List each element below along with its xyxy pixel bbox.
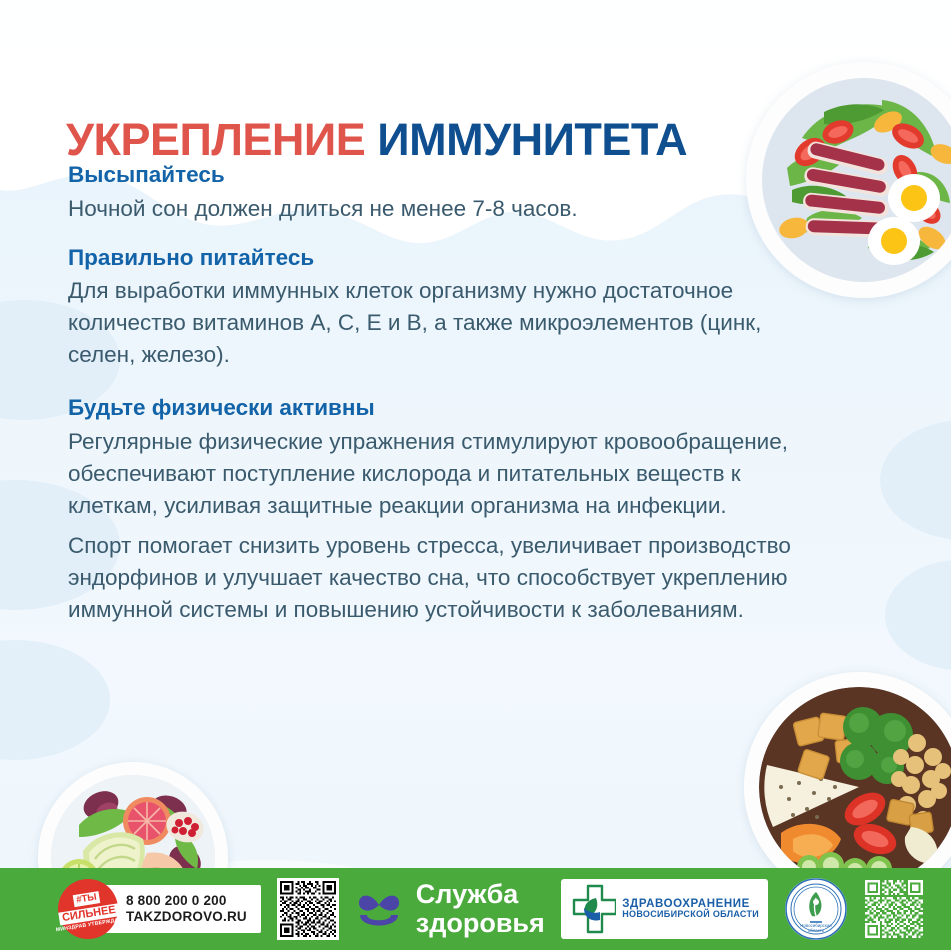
page-title-part-red: УКРЕПЛЕНИЕ: [66, 114, 365, 165]
takzdorovo-site[interactable]: TAKZDOROVO.RU: [126, 909, 247, 925]
cloud-decoration-left-lower: [0, 640, 110, 760]
page-title: УКРЕПЛЕНИЕ ИММУНИТЕТА: [66, 114, 687, 166]
takzdorovo-block[interactable]: #ТЫ СИЛЬНЕЕ МИНЗДРАВ УТВЕРЖДАЕТ 8 800 20…: [58, 879, 261, 939]
section-heading: Правильно питайтесь: [68, 243, 808, 273]
nso-logo-text: ЗДРАВООХРАНЕНИЕ НОВОСИБИРСКОЙ ОБЛАСТИ: [622, 898, 759, 921]
cloud-decoration-right-mid: [880, 420, 951, 540]
section-heading: Будьте физически активны: [68, 393, 808, 423]
section-nutrition: Правильно питайтесь Для выработки иммунн…: [68, 243, 808, 372]
svg-text:область: область: [807, 928, 824, 933]
section-physical-activity: Будьте физически активны Регулярные физи…: [68, 393, 808, 625]
section-paragraph: Ночной сон должен длиться не менее 7-8 ч…: [68, 193, 808, 225]
badge-line-1: #ТЫ: [73, 892, 101, 907]
qr-code-right[interactable]: [863, 878, 925, 940]
section-paragraph: Регулярные физические упражнения стимули…: [68, 426, 808, 522]
takzdorovo-contact-card: 8 800 200 0 200 TAKZDOROVO.RU: [100, 885, 261, 933]
nso-healthcare-logo[interactable]: ЗДРАВООХРАНЕНИЕ НОВОСИБИРСКОЙ ОБЛАСТИ: [561, 879, 768, 939]
ty-silnee-badge: #ТЫ СИЛЬНЕЕ МИНЗДРАВ УТВЕРЖДАЕТ: [58, 879, 118, 939]
regional-center-seal-icon: Новосибирская область: [785, 878, 847, 940]
heart-smile-icon: [356, 883, 402, 935]
section-heading: Высыпайтесь: [68, 160, 808, 190]
section-sleep: Высыпайтесь Ночной сон должен длиться не…: [68, 160, 808, 225]
sluzhba-zdorovya-label: Служба здоровья: [416, 880, 545, 937]
footer-bar: #ТЫ СИЛЬНЕЕ МИНЗДРАВ УТВЕРЖДАЕТ 8 800 20…: [0, 868, 951, 950]
poster-root: УКРЕПЛЕНИЕ ИММУНИТЕТА Высыпайтесь Ночной…: [0, 0, 951, 950]
section-paragraph: Спорт помогает снизить уровень стресса, …: [68, 530, 808, 626]
cloud-decoration-right-lower: [885, 560, 951, 670]
content-body: Высыпайтесь Ночной сон должен длиться не…: [68, 160, 808, 647]
sluzhba-line-1: Служба: [416, 880, 545, 909]
medical-cross-leaf-icon: [570, 884, 616, 934]
hotline-phone[interactable]: 8 800 200 0 200: [126, 893, 247, 909]
sluzhba-line-2: здоровья: [416, 909, 545, 938]
nso-line-2: НОВОСИБИРСКОЙ ОБЛАСТИ: [622, 910, 759, 920]
section-paragraph: Для выработки иммунных клеток организму …: [68, 275, 808, 371]
qr-code-left[interactable]: [277, 878, 339, 940]
sluzhba-zdorovya-block: Служба здоровья: [356, 880, 545, 937]
page-title-part-blue: ИММУНИТЕТА: [365, 114, 687, 165]
